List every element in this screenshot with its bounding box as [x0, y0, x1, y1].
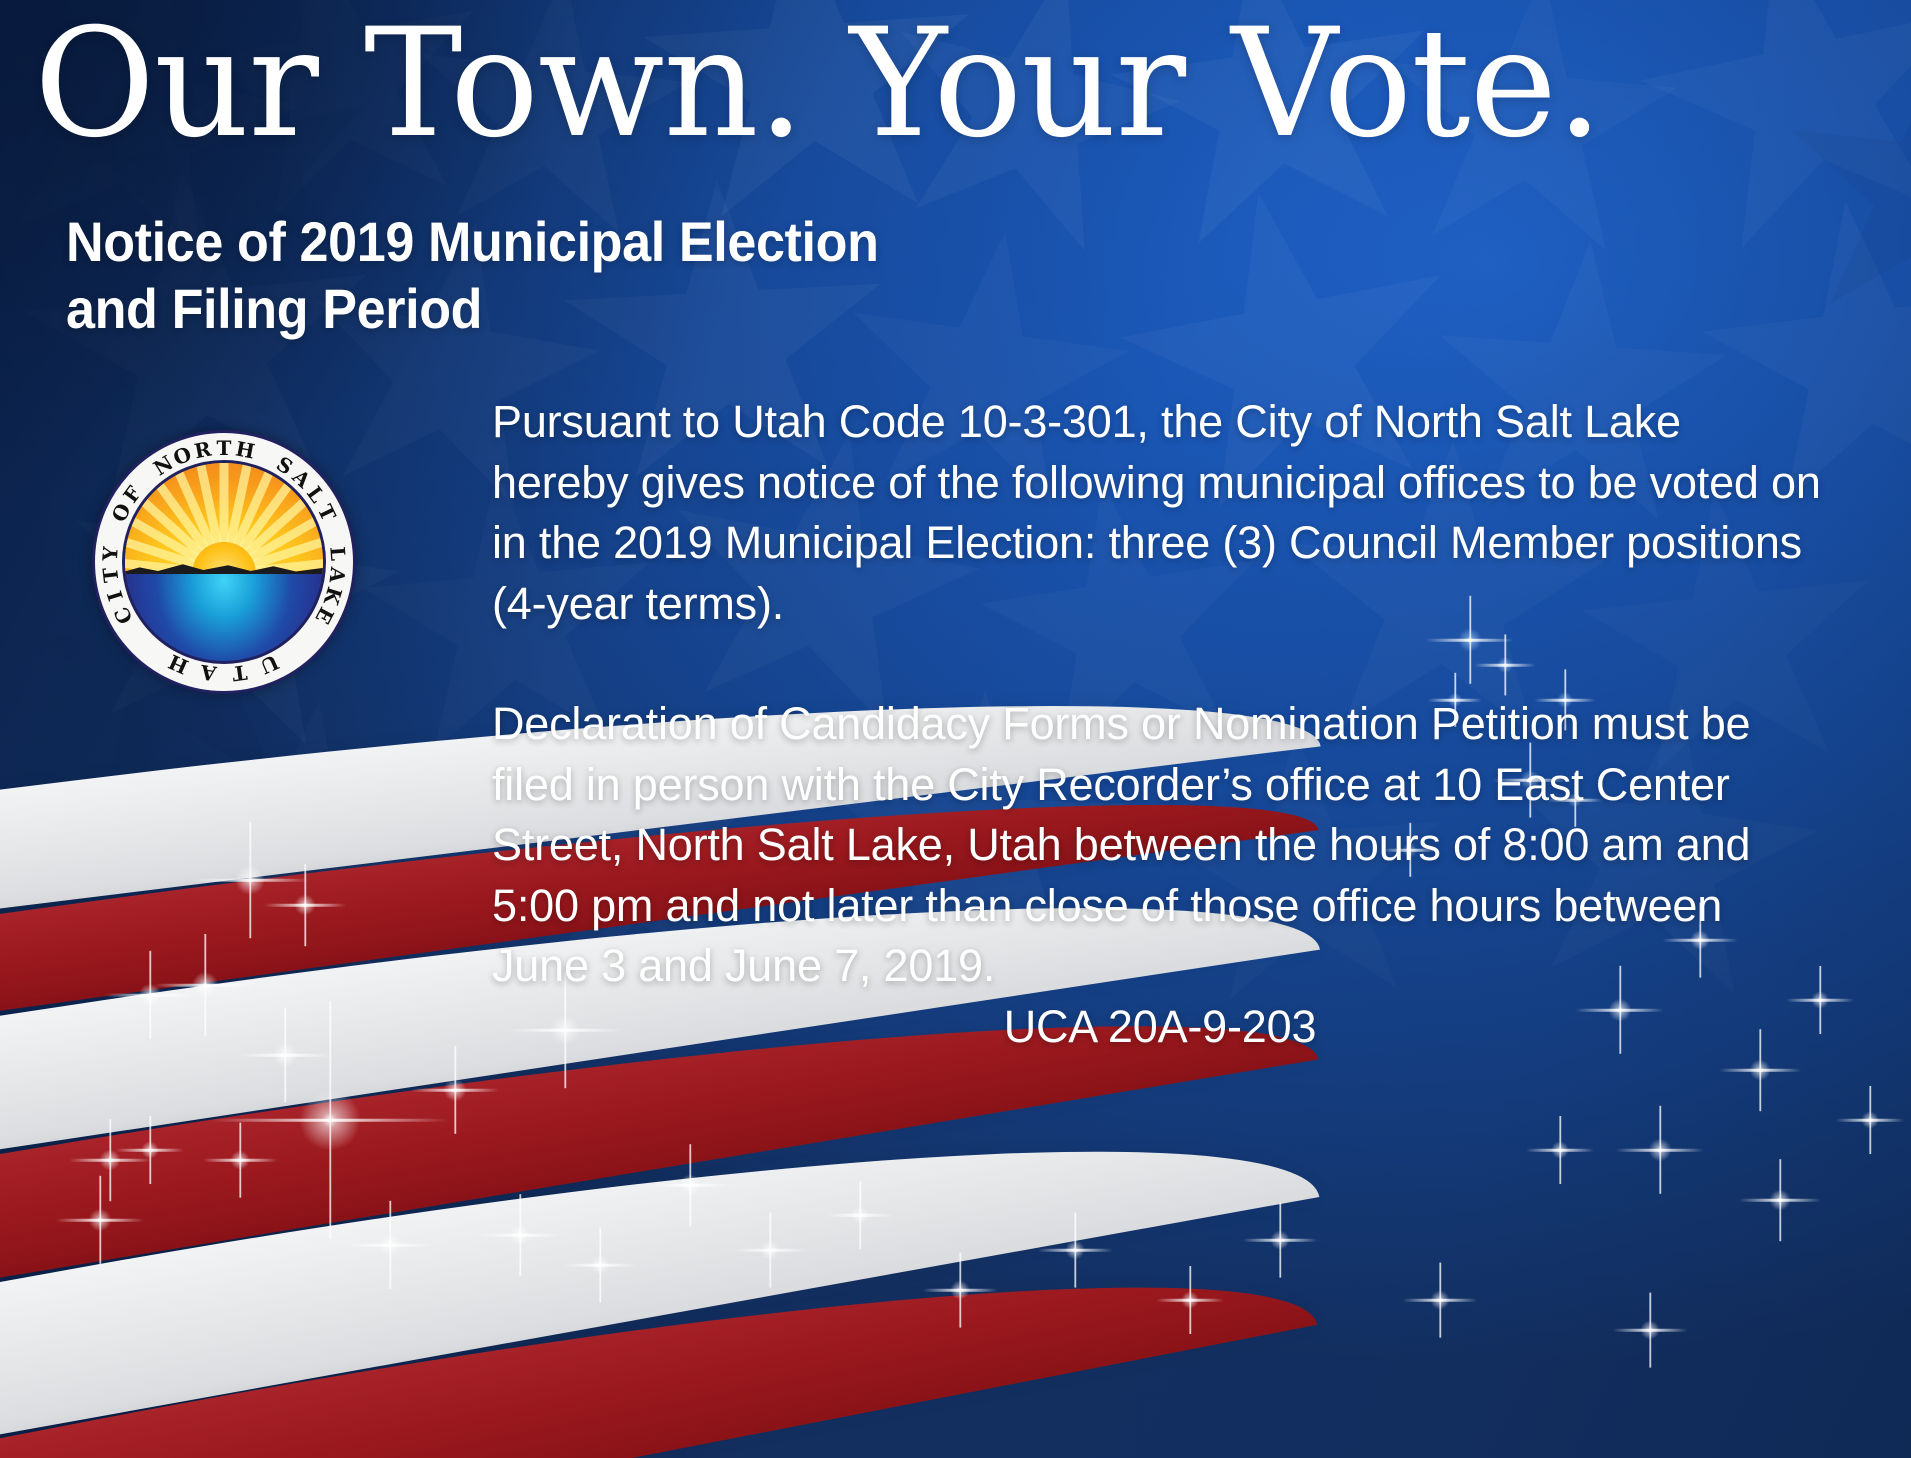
notice-paragraph-1: Pursuant to Utah Code 10-3-301, the City… — [492, 392, 1828, 634]
paragraph-spacer — [492, 634, 1828, 694]
city-seal-logo: CITY OF NORTH SALT LAKE UTAH — [92, 430, 356, 694]
page-subtitle: Notice of 2019 Municipal Election and Fi… — [66, 208, 1182, 342]
seal-lake — [125, 574, 323, 661]
seal-emblem — [122, 460, 326, 664]
notice-body: Pursuant to Utah Code 10-3-301, the City… — [492, 392, 1828, 1057]
page-subtitle-line-2: and Filing Period — [66, 275, 1182, 342]
page-subtitle-line-1: Notice of 2019 Municipal Election — [66, 208, 1182, 275]
notice-paragraph-2: Declaration of Candidacy Forms or Nomina… — [492, 694, 1828, 997]
page-title: Our Town. Your Vote. — [34, 8, 1866, 161]
election-notice-poster: Our Town. Your Vote. Notice of 2019 Muni… — [0, 0, 1911, 1458]
legal-citation: UCA 20A-9-203 — [492, 997, 1828, 1058]
